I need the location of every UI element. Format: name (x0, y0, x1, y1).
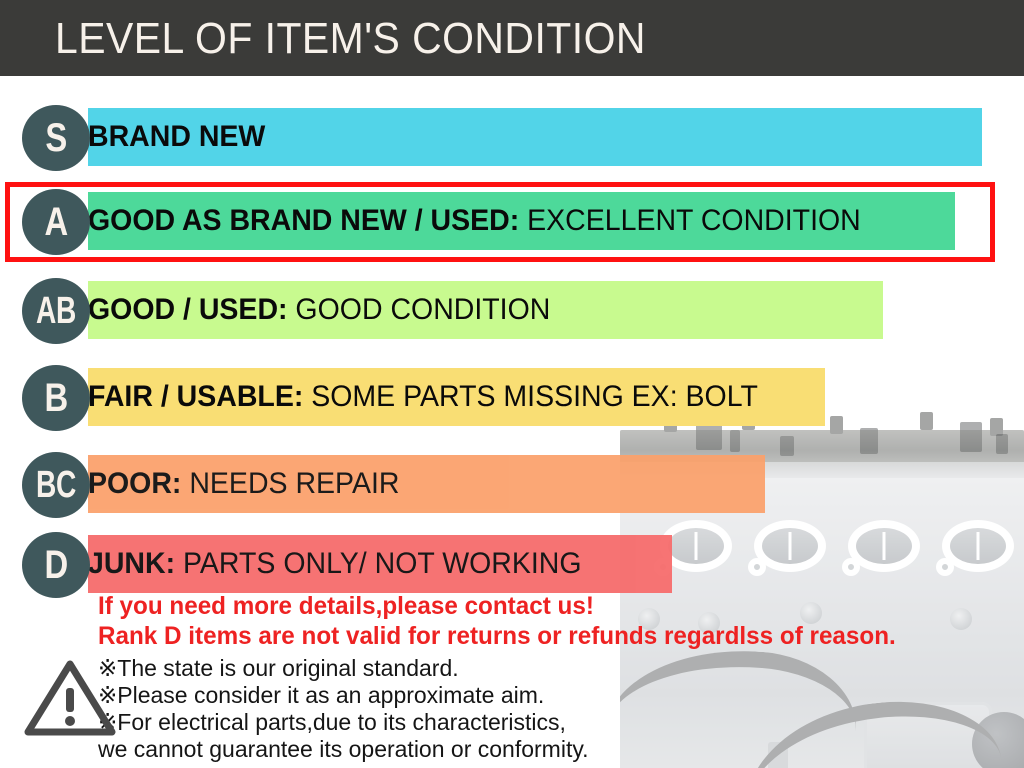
rank-label-s: BRAND NEW (88, 122, 265, 152)
page-title: LEVEL OF ITEM'S CONDITION (55, 10, 646, 68)
rank-bar-a: GOOD AS BRAND NEW / USED: EXCELLENT COND… (88, 192, 955, 250)
note-original-standard: ※The state is our original standard. (98, 655, 459, 682)
note-contact-us: If you need more details,please contact … (98, 592, 594, 621)
rank-bar-ab: GOOD / USED: GOOD CONDITION (88, 281, 883, 339)
rank-bar-s: BRAND NEW (88, 108, 982, 166)
rank-label-d: JUNK: PARTS ONLY/ NOT WORKING (88, 549, 582, 579)
note-no-guarantee: we cannot guarantee its operation or con… (98, 736, 589, 763)
condition-chart-page: LEVEL OF ITEM'S CONDITION BRAND NEW S GO… (0, 0, 1024, 768)
rank-badge-b: B (22, 365, 90, 431)
rank-badge-bc: BC (22, 452, 90, 518)
page-header-bar: LEVEL OF ITEM'S CONDITION (0, 0, 1024, 76)
rank-bar-d: JUNK: PARTS ONLY/ NOT WORKING (88, 535, 672, 593)
rank-badge-a: A (22, 189, 90, 255)
warning-triangle-icon (24, 658, 116, 738)
rank-badge-d: D (22, 532, 90, 598)
note-approximate-aim: ※Please consider it as an approximate ai… (98, 682, 544, 709)
rank-label-bc: POOR: NEEDS REPAIR (88, 469, 399, 499)
rank-bar-b: FAIR / USABLE: SOME PARTS MISSING EX: BO… (88, 368, 825, 426)
rank-badge-ab: AB (22, 278, 90, 344)
note-rank-d-no-returns: Rank D items are not valid for returns o… (98, 622, 896, 651)
rank-label-b: FAIR / USABLE: SOME PARTS MISSING EX: BO… (88, 382, 758, 412)
rank-badge-s: S (22, 105, 90, 171)
rank-label-ab: GOOD / USED: GOOD CONDITION (88, 295, 550, 325)
note-electrical-parts: ※For electrical parts,due to its charact… (98, 709, 566, 736)
rank-label-a: GOOD AS BRAND NEW / USED: EXCELLENT COND… (88, 206, 861, 236)
rank-bar-bc: POOR: NEEDS REPAIR (88, 455, 765, 513)
